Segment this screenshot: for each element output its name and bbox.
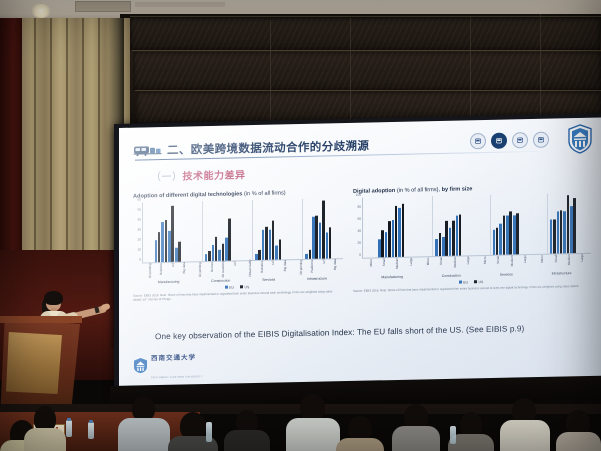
bar-us — [171, 206, 174, 262]
bar-pair — [255, 200, 261, 260]
audience-body — [286, 418, 340, 451]
bar-us — [496, 227, 499, 254]
bar-pair — [175, 201, 181, 261]
bar-pair — [385, 197, 391, 257]
presentation-slide: 二、欧美跨境数据流动合作的分歧溯源 （一）技术能力差异 — [119, 117, 601, 392]
y-axis-tick: 60 — [357, 216, 361, 220]
y-axis-tick: 10 — [137, 247, 141, 251]
y-axis-tick: 40 — [357, 228, 361, 232]
bar-us — [439, 233, 442, 256]
bar-us — [381, 230, 384, 257]
bar-pair — [218, 200, 224, 260]
category-label: Small — [439, 257, 443, 273]
bar-group — [490, 194, 521, 255]
chart-right-bars — [362, 192, 591, 258]
bar-pair — [435, 196, 441, 256]
bar-pair — [225, 200, 231, 260]
audience-body — [336, 438, 384, 451]
bar-group — [202, 200, 233, 261]
nav-section-2-button[interactable] — [491, 133, 507, 149]
category-label-group: MicroSmallMediumLarge — [534, 253, 591, 270]
bar-pair — [262, 199, 268, 259]
category-label: Medium — [453, 256, 457, 272]
category-label: Large — [580, 254, 584, 270]
category-label-group: Virtual realityRoboticsIoTBig data — [243, 260, 293, 277]
bar-pair — [305, 199, 311, 259]
category-label: Big data — [182, 262, 186, 278]
group-label: Services — [246, 277, 291, 282]
bar-us — [503, 215, 506, 254]
category-label-group: MicroSmallMediumLarge — [362, 257, 419, 274]
category-label: Medium — [510, 255, 514, 271]
category-label: Micro — [483, 256, 487, 272]
bar-group — [376, 196, 406, 257]
category-label-group: MicroSmallMediumLarge — [419, 256, 476, 273]
bar-us — [309, 250, 312, 259]
bar-pair — [161, 202, 167, 262]
y-axis-tick: 20 — [357, 240, 361, 244]
chart-left-y-axis: 0102030405060 — [131, 203, 142, 263]
group-label: Construction — [195, 278, 246, 283]
bar-us — [553, 220, 556, 254]
bar-pair — [212, 201, 218, 261]
category-label: IoT — [171, 262, 175, 278]
legend-swatch-eu — [225, 286, 228, 289]
bar-us — [228, 218, 231, 260]
bar-pair — [550, 193, 556, 253]
bar-pair — [449, 195, 455, 255]
audience-body — [24, 428, 66, 451]
bar-us — [445, 221, 448, 256]
bar-us — [395, 206, 398, 257]
category-label: Large — [523, 255, 527, 271]
category-label-group: MicroSmallMediumLarge — [477, 255, 534, 272]
legend-item-us: US — [240, 285, 249, 289]
legend-item-us: US — [474, 280, 483, 284]
bar-group — [432, 195, 463, 256]
group-label: Infrastructure — [291, 276, 343, 281]
group-label: Services — [480, 272, 532, 277]
train-icon — [133, 143, 163, 159]
chart-right-y-axis: 020406080100 — [351, 198, 362, 258]
nav-section-4-button[interactable] — [533, 132, 549, 148]
category-label: Micro — [540, 254, 544, 270]
bar-pair — [442, 196, 448, 256]
bar-pair — [570, 193, 576, 253]
bar-pair — [557, 193, 563, 253]
category-label: Medium — [395, 258, 399, 274]
bar-pair — [563, 193, 569, 253]
bar-us — [573, 198, 576, 253]
chart-left-bars — [142, 198, 343, 263]
bar-us — [208, 251, 211, 261]
chart-left-plot: 0102030405060 — [131, 199, 343, 264]
university-logo-icon — [133, 357, 148, 373]
category-label: Platforms — [310, 259, 314, 275]
bar-pair — [312, 198, 318, 258]
bar-us — [402, 204, 405, 257]
university-logo: 西南交通大学 SOUTHWEST JIAOTONG UNIVERSITY — [133, 346, 203, 384]
bar-us — [459, 214, 462, 255]
category-label: Large — [466, 256, 470, 272]
bar-pair — [506, 194, 512, 254]
group-label: Manufacturing — [142, 279, 195, 284]
chart-right: Digital adoption (in % of all firms), by… — [351, 184, 591, 294]
bar-pair — [326, 198, 332, 258]
water-bottle — [450, 426, 456, 444]
category-label: IoT — [271, 260, 275, 276]
category-label: IoT — [233, 261, 237, 277]
bar-us — [279, 239, 282, 259]
category-label: 3D printing — [198, 262, 202, 278]
podium-front-panel — [6, 332, 62, 394]
bar-us — [165, 220, 168, 262]
audience-body — [500, 420, 550, 451]
subsection-label: 技术能力差异 — [183, 170, 246, 182]
y-axis-tick: 60 — [137, 197, 141, 201]
category-label: 3D scanning — [221, 261, 225, 277]
subsection-marker: （一） — [151, 172, 183, 184]
category-label: Medium — [567, 254, 571, 270]
category-label: Small — [554, 254, 558, 270]
bar-us — [322, 200, 325, 258]
category-label: 3D printing — [148, 263, 152, 279]
audience-head — [300, 394, 325, 421]
bar-us — [452, 221, 455, 256]
nav-section-3-button[interactable] — [512, 132, 528, 148]
slide-subsection-title: （一）技术能力差异 — [151, 166, 246, 183]
bar-us — [178, 241, 181, 261]
chart-right-plot: 020406080100 — [351, 193, 591, 258]
water-bottle — [206, 422, 212, 442]
slide-nav-buttons — [470, 132, 549, 150]
bar-pair — [398, 196, 404, 256]
category-label: Micro — [369, 258, 373, 274]
audience-body — [392, 426, 440, 451]
category-label: Big data — [333, 259, 337, 275]
y-axis-tick: 40 — [137, 217, 141, 221]
wall-seam — [132, 50, 601, 51]
university-logo-text: 西南交通大学 SOUTHWEST JIAOTONG UNIVERSITY — [151, 346, 203, 383]
y-axis-tick: 20 — [137, 237, 141, 241]
ceiling-trim — [135, 2, 225, 7]
bar-pair — [168, 202, 174, 262]
bar-us — [258, 250, 261, 260]
category-label: IoT — [322, 259, 326, 275]
audience-body — [556, 432, 601, 451]
category-label: 3D printing — [299, 260, 303, 276]
bar-us — [509, 211, 512, 254]
category-label-group: 3D printingRoboticsIoTBig data — [142, 262, 192, 279]
bar-us — [388, 221, 391, 257]
chart-left-source-note: Source: EIBIS 2019. Note: Share of firms… — [131, 290, 343, 302]
audience-body — [224, 430, 270, 451]
category-label: Micro — [426, 257, 430, 273]
stone-panel — [133, 52, 601, 90]
y-axis-tick: 0 — [359, 252, 361, 256]
category-label: Small — [496, 255, 500, 271]
bar-pair — [392, 197, 398, 257]
y-axis-tick: 50 — [137, 207, 141, 211]
bar-group — [153, 201, 183, 262]
category-label: Robotics — [260, 261, 264, 277]
bar-us — [315, 215, 318, 258]
chart-left: Adoption of different digital technologi… — [131, 189, 343, 302]
ceiling-vent — [75, 1, 131, 12]
legend-item-eu: EU — [225, 285, 234, 289]
ceiling-light — [30, 4, 52, 18]
audience — [0, 386, 601, 451]
bar-us — [222, 243, 225, 260]
bar-us — [158, 232, 161, 262]
bar-us — [567, 195, 570, 253]
bar-us — [272, 220, 275, 259]
bar-pair — [493, 194, 499, 254]
bar-us — [516, 213, 519, 254]
slide-takeaway-text: One key observation of the EIBIS Digital… — [155, 324, 524, 341]
bar-us — [560, 210, 563, 253]
category-label: Drones — [210, 262, 214, 278]
category-label-group: 3D printingDrones3D scanningIoT — [192, 261, 242, 278]
bar-pair — [269, 199, 275, 259]
category-label: Virtual reality — [248, 261, 252, 277]
wall-seam — [135, 90, 601, 91]
bar-group — [547, 193, 578, 254]
y-axis-tick: 0 — [139, 257, 141, 261]
y-axis-tick: 80 — [357, 204, 361, 208]
bar-group — [302, 198, 333, 259]
bar-pair — [275, 199, 281, 259]
category-label: Big data — [283, 260, 287, 276]
bar-us — [215, 237, 218, 261]
podium-top — [0, 316, 82, 323]
bar-pair — [378, 197, 384, 257]
bar-pair — [456, 195, 462, 255]
bar-pair — [499, 194, 505, 254]
y-axis-tick: 30 — [137, 227, 141, 231]
wall-seam — [130, 16, 601, 17]
legend-item-eu: EU — [459, 280, 468, 284]
category-label-group: 3D printingPlatformsIoTBig data — [293, 259, 343, 276]
bar-pair — [155, 202, 161, 262]
presenter-hair — [44, 291, 63, 305]
bar-pair — [205, 201, 211, 261]
audience-body — [118, 418, 170, 451]
category-label: Large — [409, 257, 413, 273]
nav-section-1-button[interactable] — [470, 133, 486, 149]
legend-swatch-us — [474, 280, 477, 283]
bar-pair — [319, 198, 325, 258]
legend-swatch-us — [240, 285, 243, 288]
group-label: Manufacturing — [362, 274, 422, 279]
photo-scene: 二、欧美跨境数据流动合作的分歧溯源 （一）技术能力差异 — [0, 0, 601, 451]
bar-us — [329, 227, 332, 258]
group-label: Construction — [422, 273, 480, 278]
bar-us — [265, 226, 268, 259]
category-label: Robotics — [159, 263, 163, 279]
y-axis-tick: 100 — [356, 192, 361, 196]
university-crest-icon — [567, 124, 593, 155]
stone-panel — [130, 18, 600, 50]
bar-group — [252, 199, 283, 260]
bar-pair — [513, 194, 519, 254]
group-label: Infrastructure — [532, 270, 591, 275]
category-label: Small — [382, 258, 386, 274]
projector-screen[interactable]: 二、欧美跨境数据流动合作的分歧溯源 （一）技术能力差异 — [119, 117, 601, 392]
legend-swatch-eu — [459, 281, 462, 284]
